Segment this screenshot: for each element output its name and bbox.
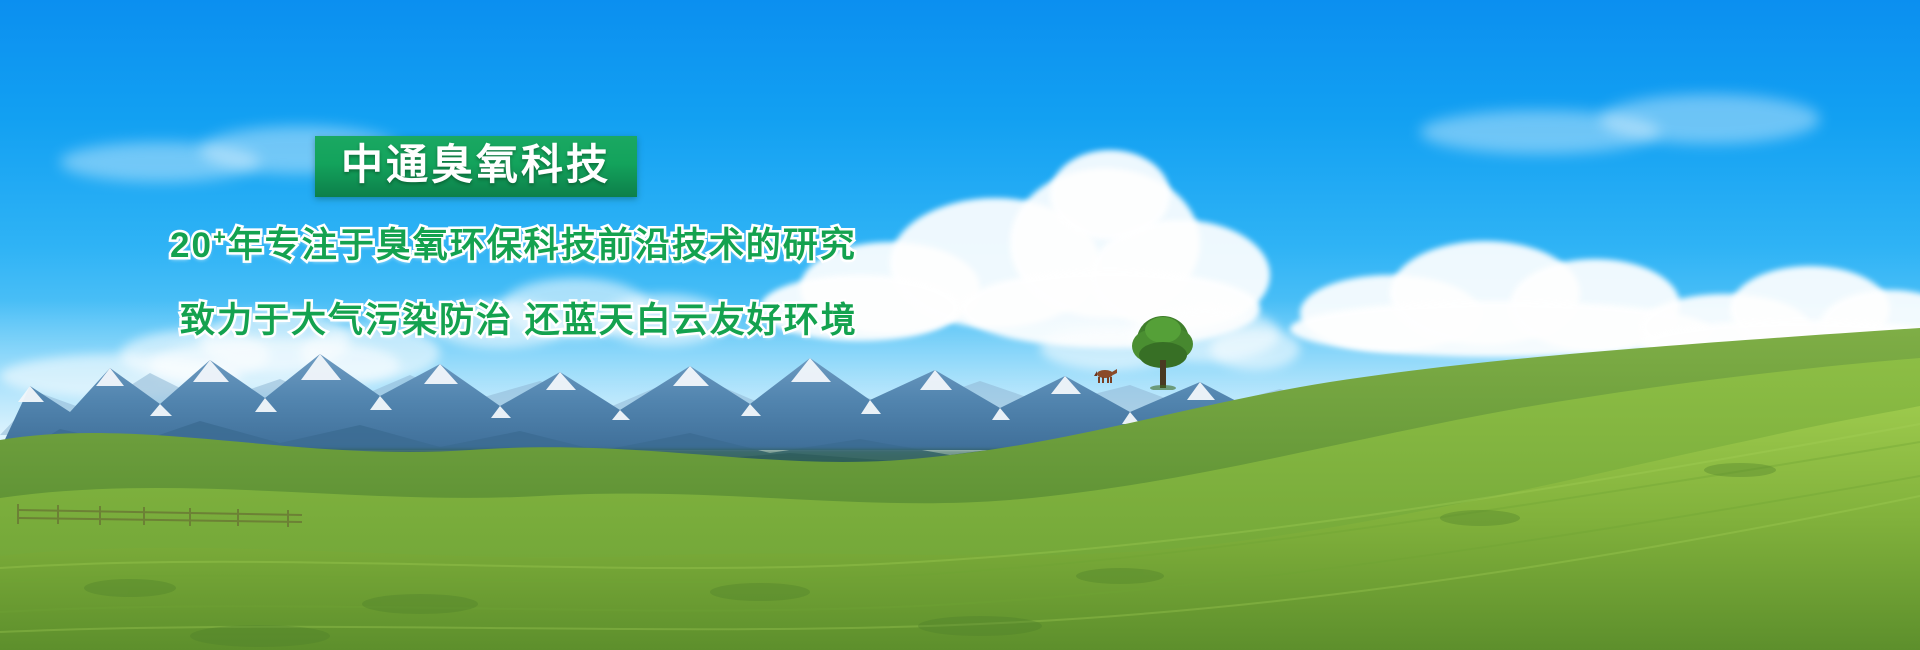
brand-title-badge: 中通臭氧科技 (315, 136, 637, 197)
grassland (0, 320, 1920, 650)
tagline-primary: 20+年专注于臭氧环保科技前沿技术的研究 (170, 217, 990, 268)
tagline-years-number: 20 (170, 226, 213, 265)
brand-title: 中通臭氧科技 (341, 142, 611, 187)
wooden-fence-icon (10, 498, 310, 528)
grazing-horse-icon (1092, 368, 1118, 384)
tagline-secondary: 致力于大气污染防治 还蓝天白云友好环境 (180, 292, 990, 343)
lone-tree-icon (1118, 310, 1208, 390)
tagline-plus-superscript: + (213, 225, 228, 250)
hero-text-block: 中通臭氧科技 20+年专注于臭氧环保科技前沿技术的研究 致力于大气污染防治 还蓝… (170, 136, 990, 343)
tagline-primary-rest: 年专注于臭氧环保科技前沿技术的研究 (228, 226, 857, 265)
hero-banner: 中通臭氧科技 20+年专注于臭氧环保科技前沿技术的研究 致力于大气污染防治 还蓝… (0, 0, 1920, 650)
